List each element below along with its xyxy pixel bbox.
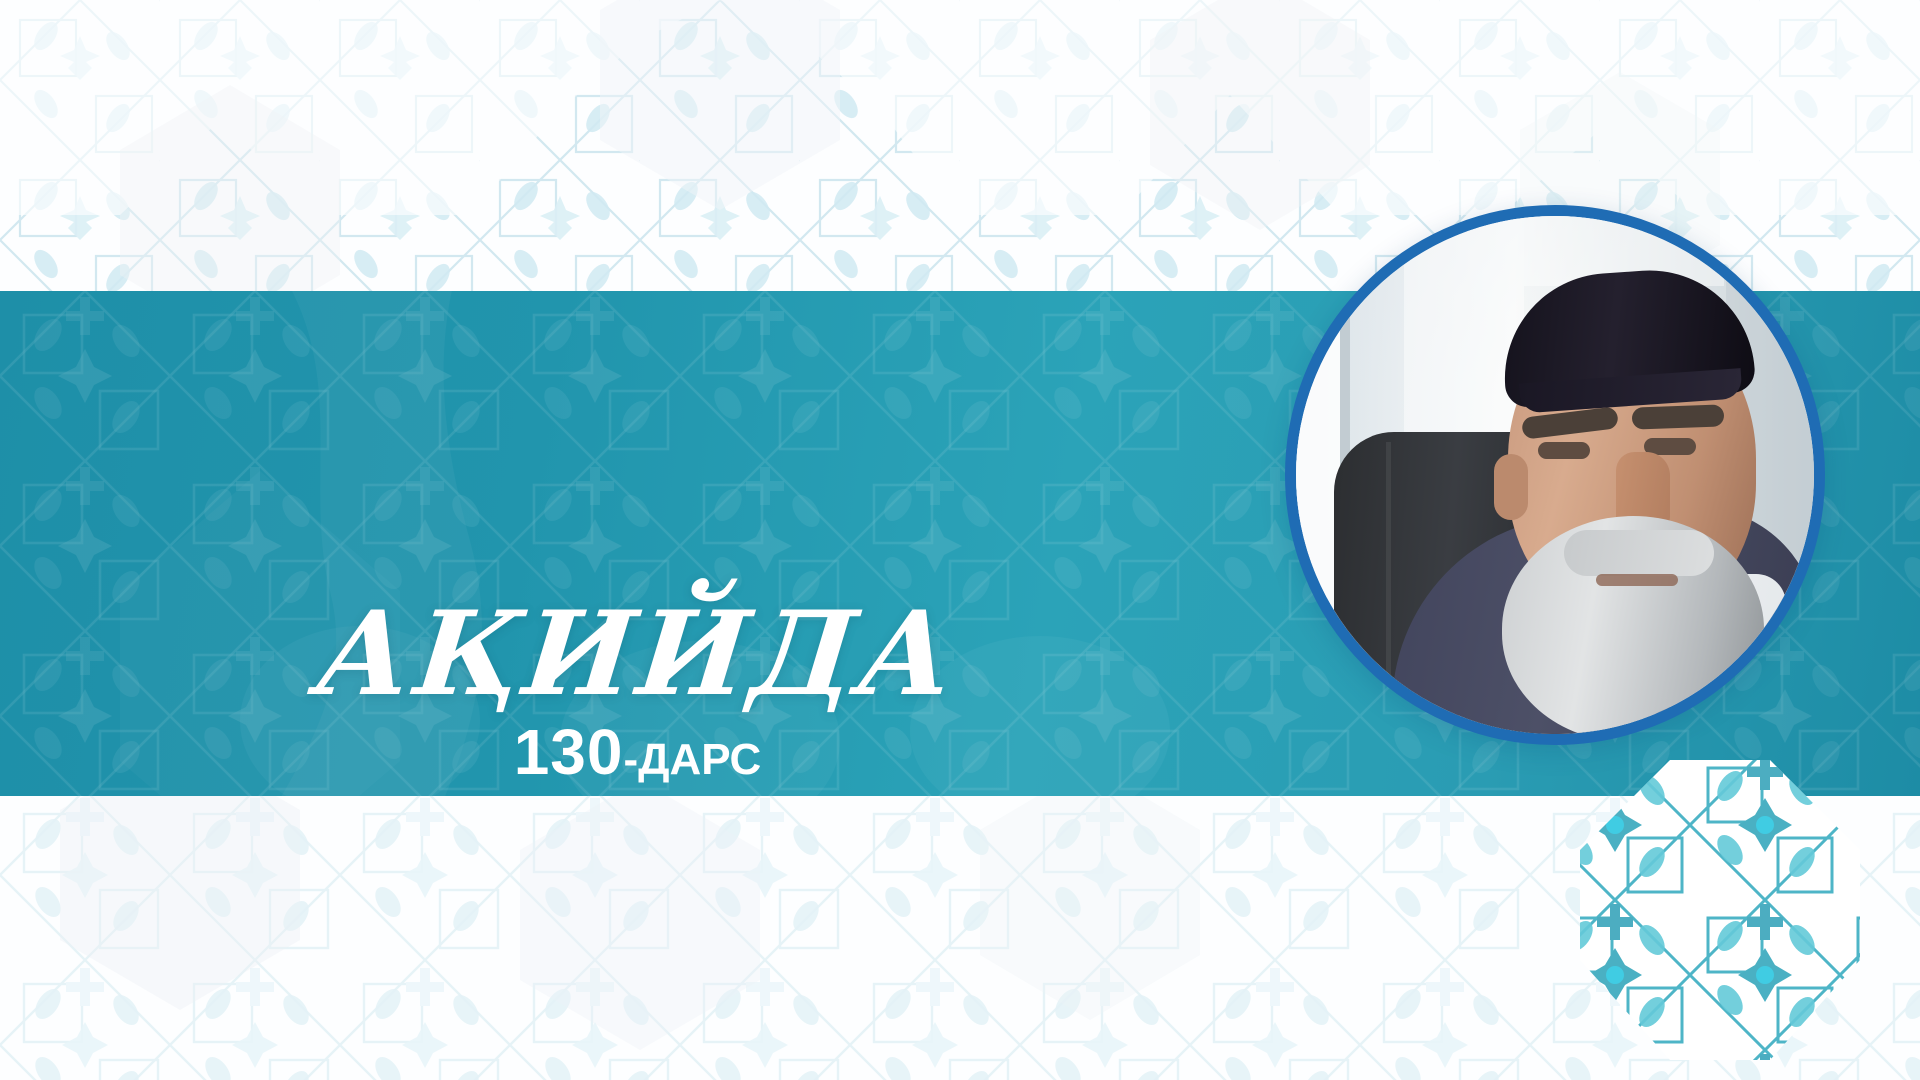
page-title: АҚИЙДА: [311, 594, 964, 716]
lesson-suffix: -ДАРС: [623, 738, 761, 782]
moustache-shape: [1564, 530, 1714, 576]
eyebrow-right: [1632, 404, 1725, 429]
corner-ornament-icon: [1540, 750, 1920, 1080]
avatar: [1285, 205, 1825, 745]
ear-shape: [1494, 454, 1528, 520]
poster-canvas: АҚИЙДА 130 -ДАРС ШАЙХ МУҲАММАД СОДИҚ МУҲ…: [0, 0, 1920, 1080]
title-text-block: АҚИЙДА 130 -ДАРС ШАЙХ МУҲАММАД СОДИҚ МУҲ…: [0, 582, 1275, 796]
lesson-label: 130 -ДАРС: [514, 720, 762, 784]
lesson-number: 130: [514, 720, 624, 784]
lip-shape: [1596, 574, 1678, 586]
portrait-photo: [1296, 216, 1814, 734]
eye-left: [1538, 442, 1590, 459]
